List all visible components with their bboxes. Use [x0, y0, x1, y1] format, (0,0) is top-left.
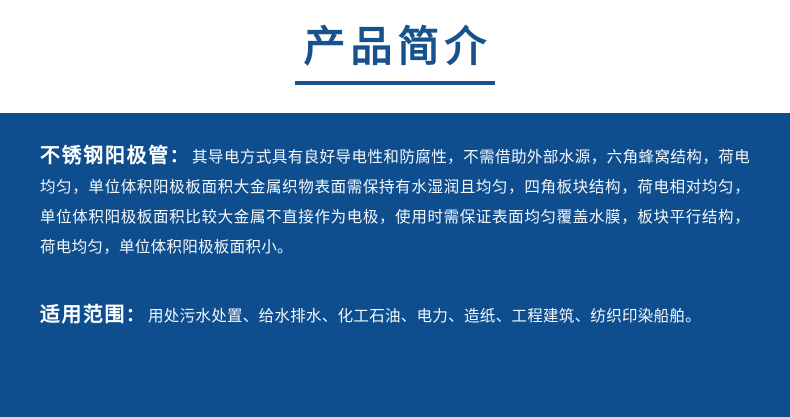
title-underline-divider	[295, 81, 495, 85]
page-header: 产品简介	[0, 0, 790, 113]
section-paragraph: 不锈钢阳极管：其导电方式具有良好导电性和防腐性，不需借助外部水源，六角蜂窝结构，…	[40, 141, 750, 263]
section-label-scope: 适用范围	[40, 304, 126, 326]
section-paragraph: 适用范围：用处污水处置、给水排水、化工石油、电力、造纸、工程建筑、纺织印染船舶。	[40, 300, 750, 332]
product-intro-page: 产品简介 不锈钢阳极管：其导电方式具有良好导电性和防腐性，不需借助外部水源，六角…	[0, 0, 790, 417]
section-body-scope: 用处污水处置、给水排水、化工石油、电力、造纸、工程建筑、纺织印染船舶。	[148, 308, 701, 325]
section-product-description: 不锈钢阳极管：其导电方式具有良好导电性和防腐性，不需借助外部水源，六角蜂窝结构，…	[40, 141, 750, 263]
content-panel: 不锈钢阳极管：其导电方式具有良好导电性和防腐性，不需借助外部水源，六角蜂窝结构，…	[0, 113, 790, 417]
section-label-product: 不锈钢阳极管	[40, 145, 170, 167]
page-title: 产品简介	[298, 22, 491, 72]
section-label-colon: ：	[170, 146, 188, 166]
section-label-colon: ：	[126, 305, 144, 325]
section-application-scope: 适用范围：用处污水处置、给水排水、化工石油、电力、造纸、工程建筑、纺织印染船舶。	[40, 300, 750, 332]
